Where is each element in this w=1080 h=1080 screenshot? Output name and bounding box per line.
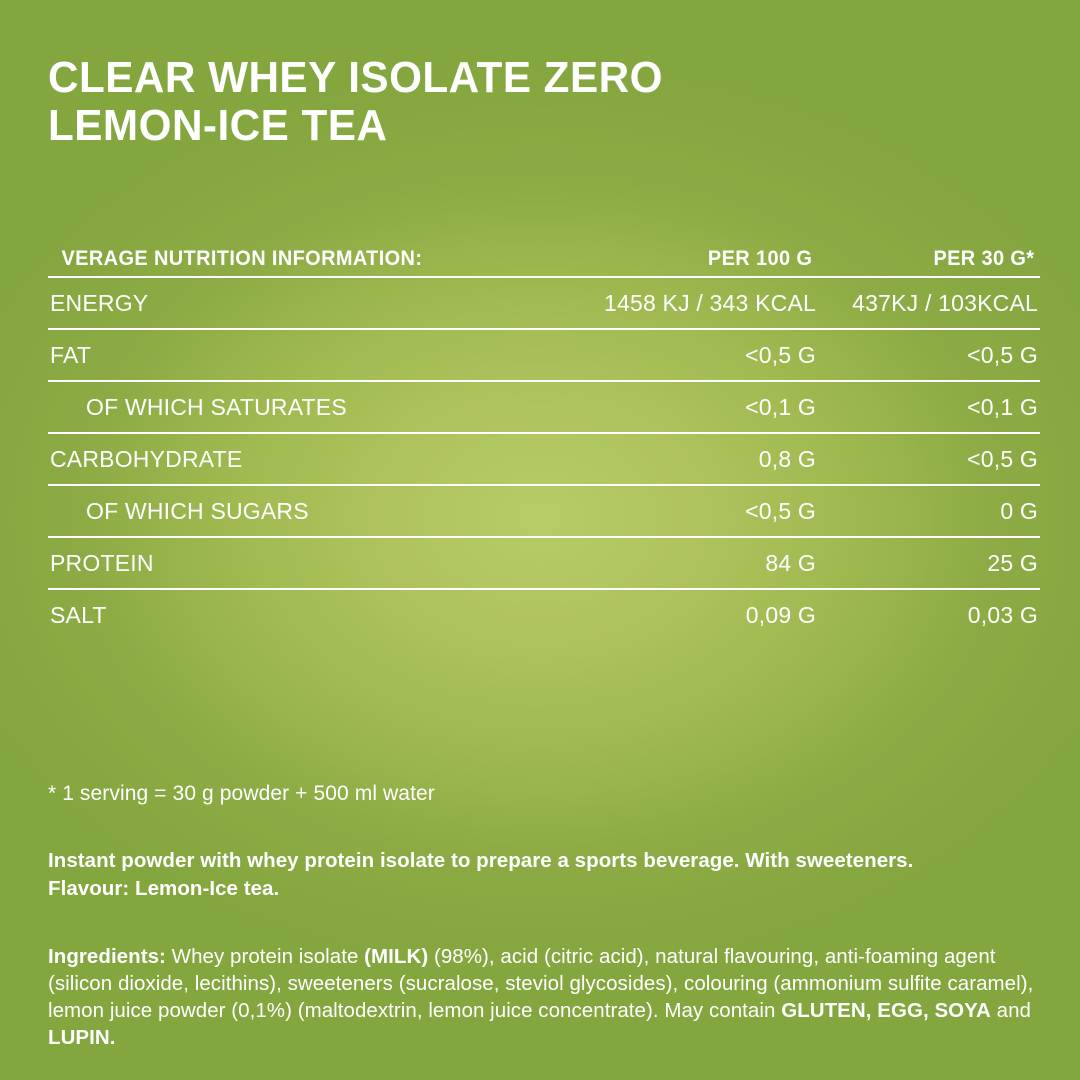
product-description-line-1: Instant powder with whey protein isolate… (48, 849, 913, 872)
nutrition-row-value-per-100g: 0,09 G (588, 589, 818, 641)
product-title: CLEAR WHEY ISOLATE ZERO LEMON-ICE TEA (48, 54, 1040, 150)
nutrition-table-row: ENERGY1458 KJ / 343 KCAL437KJ / 103KCAL (48, 277, 1040, 329)
nutrition-header-per-100g: PER 100 G (594, 242, 813, 277)
nutrition-row-label: FAT (48, 329, 588, 381)
nutrition-row-value-per-100g: <0,5 G (588, 485, 818, 537)
ingredients-paragraph: Ingredients: Whey protein isolate (MILK)… (48, 943, 1040, 1051)
product-title-line-1: CLEAR WHEY ISOLATE ZERO (48, 54, 1000, 102)
nutrition-row-label: OF WHICH SATURATES (48, 381, 588, 433)
nutrition-row-value-per-100g: 84 G (588, 537, 818, 589)
nutrition-table-row: OF WHICH SUGARS<0,5 G0 G (48, 485, 1040, 537)
nutrition-row-value-per-100g: 1458 KJ / 343 KCAL (588, 277, 818, 329)
nutrition-row-label: OF WHICH SUGARS (48, 485, 588, 537)
allergen-milk: (MILK) (364, 945, 428, 968)
allergen-list: GLUTEN, EGG, SOYA (781, 999, 991, 1022)
nutrition-table-row: SALT0,09 G0,03 G (48, 589, 1040, 641)
nutrition-row-value-per-30g: 0,03 G (818, 589, 1040, 641)
allergen-conjunction: and (991, 999, 1031, 1022)
nutrition-row-value-per-30g: <0,1 G (818, 381, 1040, 433)
nutrition-table-header-row: VERAGE NUTRITION INFORMATION: PER 100 G … (48, 242, 1040, 277)
nutrition-row-value-per-100g: 0,8 G (588, 433, 818, 485)
nutrition-table-row: CARBOHYDRATE0,8 G<0,5 G (48, 433, 1040, 485)
serving-footnote: * 1 serving = 30 g powder + 500 ml water (48, 781, 1040, 807)
nutrition-row-value-per-30g: 0 G (818, 485, 1040, 537)
nutrition-row-value-per-30g: <0,5 G (818, 329, 1040, 381)
product-title-line-2: LEMON-ICE TEA (48, 102, 1000, 150)
nutrition-header-label: VERAGE NUTRITION INFORMATION: (62, 242, 575, 277)
may-contain-prefix: May contain (664, 999, 781, 1022)
nutrition-row-value-per-30g: 437KJ / 103KCAL (818, 277, 1040, 329)
nutrition-label-panel: CLEAR WHEY ISOLATE ZERO LEMON-ICE TEA VE… (0, 0, 1080, 1080)
nutrition-row-label: CARBOHYDRATE (48, 433, 588, 485)
nutrition-table-body: ENERGY1458 KJ / 343 KCAL437KJ / 103KCALF… (48, 277, 1040, 641)
nutrition-table-row: FAT<0,5 G<0,5 G (48, 329, 1040, 381)
nutrition-table-row: PROTEIN84 G25 G (48, 537, 1040, 589)
nutrition-row-value-per-30g: <0,5 G (818, 433, 1040, 485)
ingredients-heading: Ingredients: (48, 945, 166, 968)
nutrition-information-table: VERAGE NUTRITION INFORMATION: PER 100 G … (48, 242, 1040, 641)
nutrition-header-per-30g: PER 30 G* (824, 242, 1035, 277)
ingredients-text-part-1: Whey protein isolate (166, 945, 364, 968)
nutrition-row-label: PROTEIN (48, 537, 588, 589)
nutrition-row-label: SALT (48, 589, 588, 641)
nutrition-row-value-per-100g: <0,1 G (588, 381, 818, 433)
nutrition-table-row: OF WHICH SATURATES<0,1 G<0,1 G (48, 381, 1040, 433)
nutrition-row-value-per-100g: <0,5 G (588, 329, 818, 381)
nutrition-row-value-per-30g: 25 G (818, 537, 1040, 589)
nutrition-row-label: ENERGY (48, 277, 588, 329)
product-description-line-2: Flavour: Lemon-Ice tea. (48, 877, 279, 900)
allergen-lupin: LUPIN. (48, 1026, 116, 1049)
product-description: Instant powder with whey protein isolate… (48, 847, 1038, 903)
